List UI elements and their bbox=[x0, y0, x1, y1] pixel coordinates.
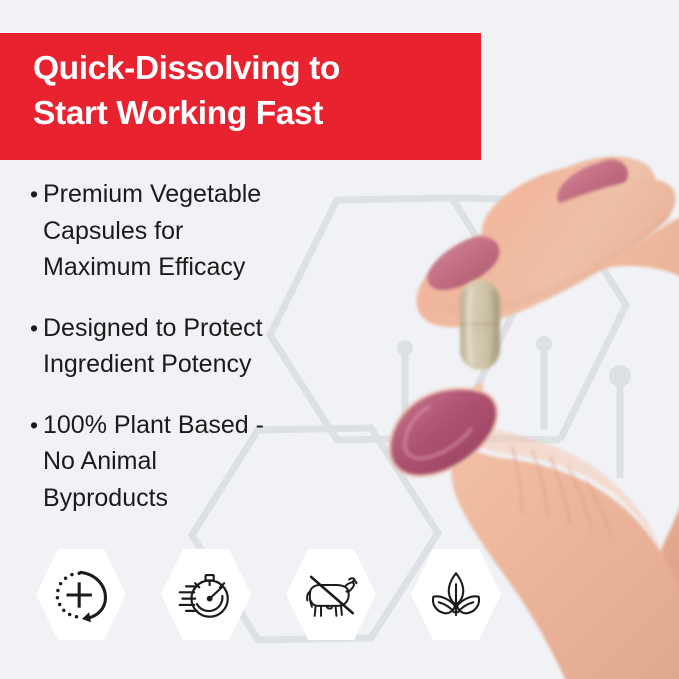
bullet-marker-icon: • bbox=[30, 176, 43, 212]
feature-bullet-list: • Premium Vegetable Capsules for Maximum… bbox=[30, 176, 360, 540]
bullet-text: Premium Vegetable Capsules for Maximum E… bbox=[43, 176, 261, 286]
product-feature-image: Quick-Dissolving to Start Working Fast •… bbox=[0, 0, 679, 679]
badge-plant-based bbox=[410, 547, 502, 642]
list-item: • Designed to Protect Ingredient Potency bbox=[30, 310, 360, 383]
stopwatch-fast-icon bbox=[177, 566, 235, 624]
headline-banner: Quick-Dissolving to Start Working Fast bbox=[0, 33, 481, 160]
badge-enhanced-absorption bbox=[35, 547, 127, 642]
badge-fast-acting bbox=[160, 547, 252, 642]
list-item: • 100% Plant Based - No Animal Byproduct… bbox=[30, 407, 360, 517]
bullet-marker-icon: • bbox=[30, 407, 43, 443]
bullet-marker-icon: • bbox=[30, 310, 43, 346]
plant-sprout-icon bbox=[427, 566, 485, 624]
benefit-badge-row bbox=[35, 547, 502, 642]
headline-line-1: Quick-Dissolving to bbox=[33, 46, 461, 91]
bullet-text: 100% Plant Based - No Animal Byproducts bbox=[43, 407, 264, 517]
plus-circular-arrow-icon bbox=[52, 566, 110, 624]
no-cow-icon bbox=[302, 566, 360, 624]
headline-line-2: Start Working Fast bbox=[33, 91, 461, 136]
bullet-text: Designed to Protect Ingredient Potency bbox=[43, 310, 263, 383]
badge-no-animal-byproducts bbox=[285, 547, 377, 642]
list-item: • Premium Vegetable Capsules for Maximum… bbox=[30, 176, 360, 286]
